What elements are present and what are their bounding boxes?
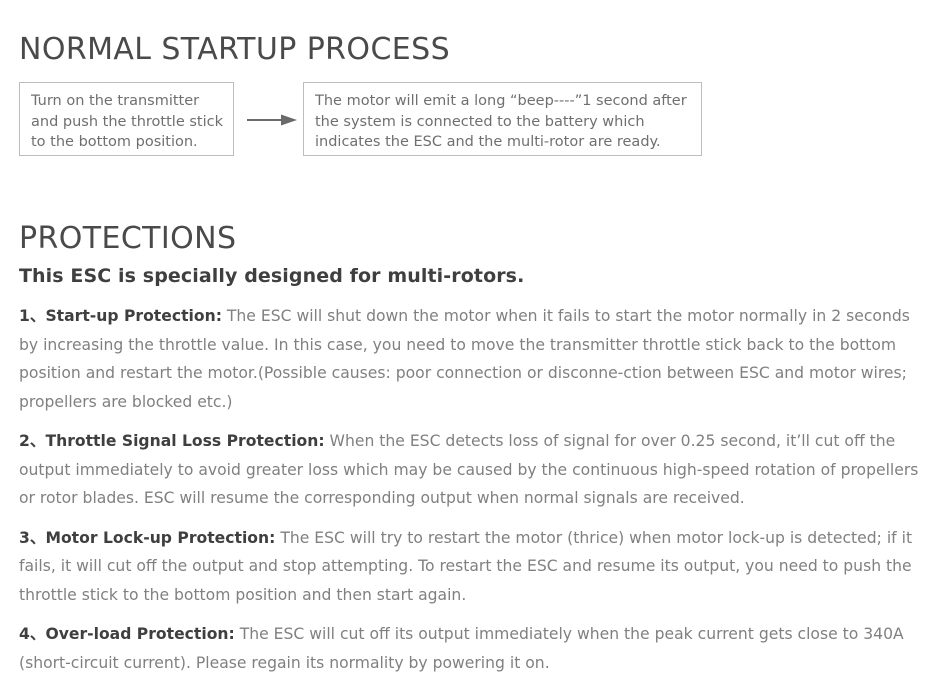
flowchart-box-step-2: The motor will emit a long “beep----”1 s… — [303, 82, 702, 156]
protection-item-1: 1、Start-up Protection: The ESC will shut… — [19, 302, 920, 416]
protection-item-3: 3、Motor Lock-up Protection: The ESC will… — [19, 524, 920, 610]
document-page: NORMAL STARTUP PROCESS Turn on the trans… — [0, 0, 940, 661]
startup-flowchart: Turn on the transmitter and push the thr… — [19, 82, 702, 156]
protection-item-3-number: 3、 — [19, 529, 45, 547]
protections-lead-sentence: This ESC is specially designed for multi… — [19, 265, 524, 287]
protection-item-2-number: 2、 — [19, 432, 45, 450]
protections-list: 1、Start-up Protection: The ESC will shut… — [19, 302, 920, 688]
protection-item-1-number: 1、 — [19, 307, 45, 325]
page-title-normal-startup-process: NORMAL STARTUP PROCESS — [19, 32, 450, 67]
protection-item-4-label: Over-load Protection: — [45, 625, 234, 643]
protection-item-3-label: Motor Lock-up Protection: — [45, 529, 275, 547]
flowchart-box-step-1: Turn on the transmitter and push the thr… — [19, 82, 234, 156]
protection-item-1-label: Start-up Protection: — [45, 307, 221, 325]
protection-item-4: 4、Over-load Protection: The ESC will cut… — [19, 620, 920, 677]
right-arrow-icon — [247, 112, 299, 126]
protection-item-4-number: 4、 — [19, 625, 45, 643]
protection-item-2-label: Throttle Signal Loss Protection: — [45, 432, 324, 450]
page-title-protections: PROTECTIONS — [19, 221, 236, 256]
protection-item-2: 2、Throttle Signal Loss Protection: When … — [19, 427, 920, 513]
